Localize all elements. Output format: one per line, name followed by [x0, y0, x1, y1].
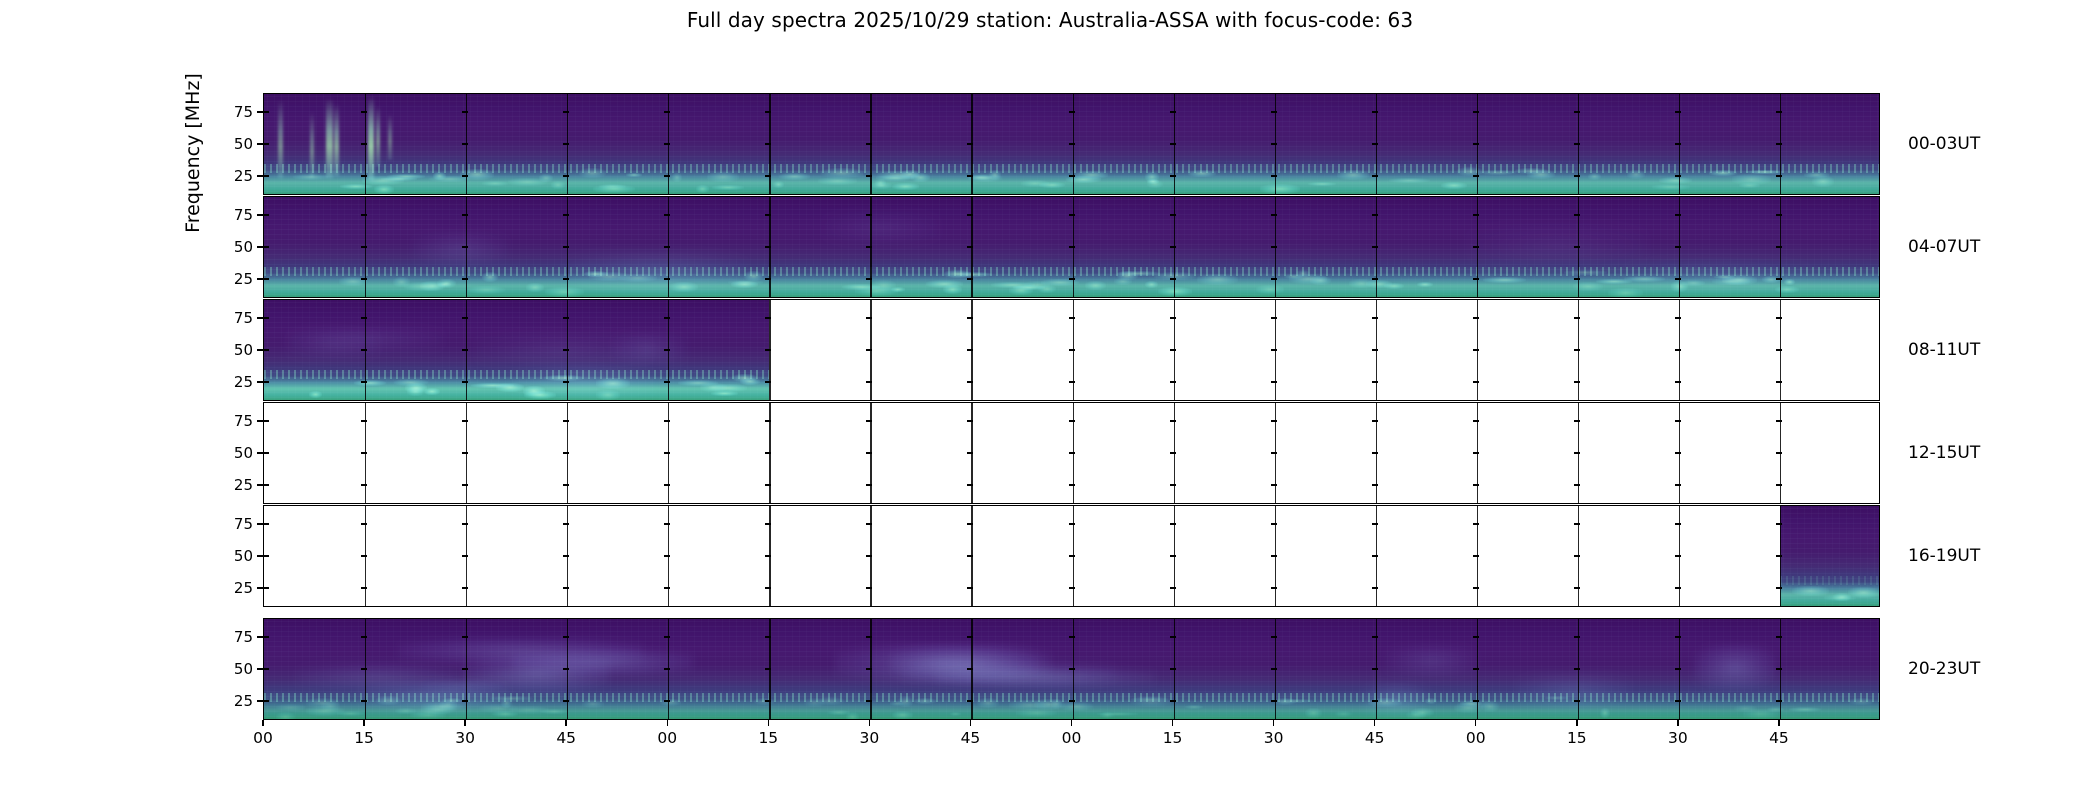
- spectrogram-figure: Full day spectra 2025/10/29 station: Aus…: [0, 0, 2100, 800]
- panel-row-label: 04-07UT: [1908, 237, 1980, 257]
- y-axis-tick: [462, 636, 468, 637]
- y-axis-tick: [967, 452, 973, 453]
- y-axis-tick: [1372, 246, 1378, 247]
- y-axis-tick: [1372, 452, 1378, 453]
- y-axis-tick: [1372, 381, 1378, 382]
- page-title: Full day spectra 2025/10/29 station: Aus…: [0, 8, 2100, 32]
- y-axis-tick: [263, 668, 269, 669]
- y-axis-tick: [563, 700, 569, 701]
- y-axis-tick: [1473, 381, 1479, 382]
- y-axis-label: Frequency [MHz]: [182, 38, 204, 268]
- y-axis-tick: [1069, 111, 1075, 112]
- y-axis-tick: [462, 668, 468, 669]
- y-axis-tick-label: 25: [209, 373, 253, 391]
- x-axis-tick: [1576, 720, 1577, 726]
- y-axis-tick: [866, 143, 872, 144]
- y-axis-tick: [1170, 175, 1176, 176]
- y-axis-tick: [361, 420, 367, 421]
- y-axis-tick: [1372, 555, 1378, 556]
- y-axis-tick: [263, 317, 269, 318]
- y-axis-tick: [263, 381, 269, 382]
- y-axis-tick: [1170, 143, 1176, 144]
- y-axis-tick: [1473, 349, 1479, 350]
- y-axis-tick: [1271, 317, 1277, 318]
- y-axis-tick: [664, 317, 670, 318]
- y-axis-tick: [967, 175, 973, 176]
- y-axis-tick: [765, 317, 771, 318]
- x-axis-tick-label: 00: [1446, 729, 1506, 747]
- y-axis-tick: [1473, 175, 1479, 176]
- y-axis-tick: [1170, 700, 1176, 701]
- y-axis-tick: [1574, 420, 1580, 421]
- y-axis-tick: [866, 349, 872, 350]
- y-axis-tick: [1574, 349, 1580, 350]
- y-axis-tick: [1776, 381, 1782, 382]
- y-axis-tick: [1473, 700, 1479, 701]
- x-axis-tick-label: 30: [435, 729, 495, 747]
- x-axis-tick-label: 15: [738, 729, 798, 747]
- y-axis-tick: [866, 381, 872, 382]
- x-axis-tick: [464, 720, 465, 726]
- y-axis-tick: [361, 587, 367, 588]
- no-data-region: [769, 300, 1880, 400]
- y-axis-tick: [1776, 214, 1782, 215]
- y-axis-tick: [866, 317, 872, 318]
- y-axis-tick: [1271, 246, 1277, 247]
- y-axis-tick: [1574, 555, 1580, 556]
- y-axis-tick: [361, 278, 367, 279]
- y-axis-tick: [967, 668, 973, 669]
- y-axis-tick: [1675, 278, 1681, 279]
- y-axis-tick: [765, 420, 771, 421]
- y-axis-tick: [361, 484, 367, 485]
- y-axis-tick: [664, 381, 670, 382]
- y-axis-tick: [967, 484, 973, 485]
- y-axis-tick: [1069, 278, 1075, 279]
- x-axis-tick-label: 00: [233, 729, 293, 747]
- y-axis-tick: [1069, 587, 1075, 588]
- y-axis-tick-label: 75: [209, 515, 253, 533]
- y-axis-tick: [1776, 452, 1782, 453]
- y-axis-tick: [765, 452, 771, 453]
- y-axis-tick: [1776, 636, 1782, 637]
- y-axis-tick: [1271, 523, 1277, 524]
- y-axis-tick: [263, 214, 269, 215]
- spectrogram-image: [1780, 506, 1880, 606]
- y-axis-tick: [1776, 420, 1782, 421]
- y-axis-tick: [866, 111, 872, 112]
- x-axis-tick: [1677, 720, 1678, 726]
- y-axis-tick: [462, 214, 468, 215]
- y-axis-tick: [1675, 587, 1681, 588]
- y-axis-tick: [263, 700, 269, 701]
- y-axis-tick: [1675, 636, 1681, 637]
- y-axis-tick: [664, 587, 670, 588]
- y-axis-tick: [664, 555, 670, 556]
- y-axis-tick: [967, 246, 973, 247]
- y-axis-tick: [361, 317, 367, 318]
- y-axis-tick: [1069, 523, 1075, 524]
- y-axis-tick: [664, 636, 670, 637]
- panel-row-label: 00-03UT: [1908, 134, 1980, 154]
- y-axis-tick: [1675, 214, 1681, 215]
- y-axis-tick: [462, 555, 468, 556]
- y-axis-tick: [563, 523, 569, 524]
- y-axis-tick: [263, 636, 269, 637]
- y-axis-tick: [1776, 246, 1782, 247]
- y-axis-tick-label: 50: [209, 444, 253, 462]
- y-axis-tick: [1170, 555, 1176, 556]
- y-axis-tick: [1574, 523, 1580, 524]
- no-data-region: [264, 506, 1780, 606]
- y-axis-tick: [263, 452, 269, 453]
- y-axis-tick: [361, 668, 367, 669]
- y-axis-tick: [263, 523, 269, 524]
- y-axis-tick: [462, 278, 468, 279]
- y-axis-tick: [1372, 700, 1378, 701]
- y-axis-tick: [361, 381, 367, 382]
- panel-row-label: 20-23UT: [1908, 659, 1980, 679]
- x-axis-tick-label: 15: [1143, 729, 1203, 747]
- y-axis-tick: [462, 246, 468, 247]
- y-axis-tick: [462, 700, 468, 701]
- y-axis-tick: [1574, 111, 1580, 112]
- y-axis-tick: [866, 214, 872, 215]
- y-axis-tick: [1271, 587, 1277, 588]
- emission-band: [264, 273, 1880, 297]
- y-axis-tick: [967, 111, 973, 112]
- emission-band: [264, 699, 1880, 719]
- y-axis-tick: [1170, 111, 1176, 112]
- y-axis-tick: [361, 246, 367, 247]
- y-axis-tick: [1473, 484, 1479, 485]
- y-axis-tick: [1271, 143, 1277, 144]
- y-axis-tick: [1776, 278, 1782, 279]
- y-axis-tick: [1372, 420, 1378, 421]
- y-axis-tick: [1170, 452, 1176, 453]
- y-axis-tick: [1170, 636, 1176, 637]
- x-axis-tick-label: 00: [1042, 729, 1102, 747]
- x-axis-tick-label: 45: [1345, 729, 1405, 747]
- y-axis-tick: [866, 587, 872, 588]
- y-axis-tick: [1069, 246, 1075, 247]
- y-axis-tick: [1372, 214, 1378, 215]
- y-axis-tick: [563, 636, 569, 637]
- emission-speckle: [264, 370, 769, 379]
- y-axis-tick-label: 50: [209, 135, 253, 153]
- y-axis-tick: [1069, 555, 1075, 556]
- x-axis-tick: [970, 720, 971, 726]
- y-axis-tick: [664, 143, 670, 144]
- y-axis-tick: [1473, 555, 1479, 556]
- y-axis-tick: [1271, 555, 1277, 556]
- y-axis-tick: [1271, 636, 1277, 637]
- y-axis-tick: [1170, 214, 1176, 215]
- y-axis-tick: [1271, 214, 1277, 215]
- y-axis-tick: [866, 700, 872, 701]
- y-axis-tick: [967, 420, 973, 421]
- y-axis-tick: [664, 420, 670, 421]
- x-axis-tick: [1273, 720, 1274, 726]
- y-axis-tick: [967, 636, 973, 637]
- y-axis-tick: [664, 668, 670, 669]
- x-axis-tick: [1172, 720, 1173, 726]
- y-axis-tick: [1372, 484, 1378, 485]
- y-axis-tick: [1069, 214, 1075, 215]
- x-axis-tick-label: 30: [1648, 729, 1708, 747]
- y-axis-tick: [664, 484, 670, 485]
- x-axis-tick: [869, 720, 870, 726]
- y-axis-tick: [1069, 700, 1075, 701]
- y-axis-tick: [1776, 587, 1782, 588]
- y-axis-tick: [1776, 523, 1782, 524]
- y-axis-tick-label: 25: [209, 476, 253, 494]
- y-axis-tick-label: 50: [209, 341, 253, 359]
- y-axis-tick: [1473, 278, 1479, 279]
- y-axis-tick: [1271, 278, 1277, 279]
- y-axis-tick: [1574, 668, 1580, 669]
- y-axis-tick: [263, 587, 269, 588]
- y-axis-tick: [1170, 381, 1176, 382]
- y-axis-tick: [1675, 111, 1681, 112]
- emission-band: [1780, 582, 1880, 606]
- y-axis-tick: [765, 587, 771, 588]
- y-axis-tick: [361, 143, 367, 144]
- y-axis-tick: [765, 700, 771, 701]
- y-axis-tick-label: 50: [209, 238, 253, 256]
- y-axis-tick: [1574, 246, 1580, 247]
- y-axis-tick: [1271, 700, 1277, 701]
- y-axis-tick: [563, 668, 569, 669]
- y-axis-tick: [1271, 381, 1277, 382]
- y-axis-tick: [765, 143, 771, 144]
- y-axis-tick: [361, 700, 367, 701]
- y-axis-tick: [361, 523, 367, 524]
- y-axis-tick: [1473, 246, 1479, 247]
- y-axis-tick: [1473, 668, 1479, 669]
- y-axis-tick: [765, 214, 771, 215]
- y-axis-tick: [967, 278, 973, 279]
- y-axis-tick: [462, 523, 468, 524]
- y-axis-tick: [765, 523, 771, 524]
- y-axis-tick: [1372, 636, 1378, 637]
- x-axis-tick-label: 15: [1547, 729, 1607, 747]
- y-axis-tick: [1776, 175, 1782, 176]
- y-axis-tick: [263, 420, 269, 421]
- y-axis-tick-label: 75: [209, 206, 253, 224]
- y-axis-tick: [1473, 523, 1479, 524]
- y-axis-tick: [1069, 452, 1075, 453]
- y-axis-tick: [1372, 349, 1378, 350]
- y-axis-tick: [1675, 555, 1681, 556]
- y-axis-tick: [765, 246, 771, 247]
- y-axis-tick: [866, 175, 872, 176]
- x-axis-tick: [1071, 720, 1072, 726]
- y-axis-tick: [1675, 668, 1681, 669]
- y-axis-tick: [263, 175, 269, 176]
- y-axis-tick: [1372, 668, 1378, 669]
- y-axis-tick: [967, 349, 973, 350]
- y-axis-tick: [1675, 484, 1681, 485]
- y-axis-tick: [361, 214, 367, 215]
- y-axis-tick: [1675, 700, 1681, 701]
- y-axis-tick: [462, 484, 468, 485]
- y-axis-tick: [563, 214, 569, 215]
- y-axis-tick: [1069, 317, 1075, 318]
- y-axis-tick: [462, 175, 468, 176]
- y-axis-tick: [1473, 420, 1479, 421]
- y-axis-tick: [1271, 349, 1277, 350]
- y-axis-tick: [1170, 587, 1176, 588]
- y-axis-tick: [866, 246, 872, 247]
- x-axis-tick-label: 30: [1244, 729, 1304, 747]
- y-axis-tick: [1574, 317, 1580, 318]
- y-axis-tick: [563, 278, 569, 279]
- y-axis-tick: [1069, 143, 1075, 144]
- y-axis-tick: [664, 349, 670, 350]
- y-axis-tick: [1372, 175, 1378, 176]
- y-axis-tick: [361, 555, 367, 556]
- y-axis-tick: [1069, 349, 1075, 350]
- y-axis-tick: [1069, 484, 1075, 485]
- y-axis-tick: [866, 420, 872, 421]
- y-axis-tick: [866, 523, 872, 524]
- y-axis-tick: [967, 317, 973, 318]
- x-axis-tick-label: 15: [334, 729, 394, 747]
- y-axis-tick: [1473, 452, 1479, 453]
- y-axis-tick: [1776, 668, 1782, 669]
- y-axis-tick: [1776, 143, 1782, 144]
- y-axis-tick: [1574, 587, 1580, 588]
- y-axis-tick: [462, 111, 468, 112]
- y-axis-tick: [1170, 317, 1176, 318]
- y-axis-tick: [563, 317, 569, 318]
- y-axis-tick: [866, 484, 872, 485]
- y-axis-tick: [1776, 555, 1782, 556]
- y-axis-tick: [765, 381, 771, 382]
- y-axis-tick: [1776, 111, 1782, 112]
- y-axis-tick: [1574, 700, 1580, 701]
- y-axis-tick: [1675, 143, 1681, 144]
- panel-row-label: 16-19UT: [1908, 546, 1980, 566]
- y-axis-tick: [361, 349, 367, 350]
- x-axis-tick: [667, 720, 668, 726]
- y-axis-tick: [866, 452, 872, 453]
- y-axis-tick: [1574, 143, 1580, 144]
- y-axis-tick: [563, 555, 569, 556]
- emission-band: [264, 376, 769, 400]
- y-axis-tick: [1069, 175, 1075, 176]
- y-axis-tick: [1170, 349, 1176, 350]
- y-axis-tick: [1170, 420, 1176, 421]
- y-axis-tick: [1675, 452, 1681, 453]
- y-axis-tick: [1372, 587, 1378, 588]
- y-axis-tick: [361, 452, 367, 453]
- y-axis-tick: [1271, 452, 1277, 453]
- y-axis-tick: [1776, 349, 1782, 350]
- y-axis-tick: [765, 349, 771, 350]
- y-axis-tick: [664, 523, 670, 524]
- emission-speckle: [264, 267, 1880, 276]
- y-axis-tick: [263, 111, 269, 112]
- y-axis-tick: [1473, 317, 1479, 318]
- y-axis-tick: [563, 420, 569, 421]
- y-axis-tick: [1574, 484, 1580, 485]
- panel-row-label: 08-11UT: [1908, 340, 1980, 360]
- y-axis-tick: [967, 555, 973, 556]
- y-axis-tick: [1271, 668, 1277, 669]
- y-axis-tick: [1776, 700, 1782, 701]
- y-axis-tick: [866, 555, 872, 556]
- y-axis-tick-label: 25: [209, 270, 253, 288]
- x-axis-tick-label: 45: [940, 729, 1000, 747]
- x-axis-tick: [1475, 720, 1476, 726]
- y-axis-tick: [462, 317, 468, 318]
- x-axis-tick: [262, 720, 263, 726]
- y-axis-tick: [1473, 111, 1479, 112]
- y-axis-tick: [1473, 143, 1479, 144]
- y-axis-tick: [263, 278, 269, 279]
- y-axis-tick-label: 25: [209, 579, 253, 597]
- y-axis-tick: [263, 143, 269, 144]
- x-axis-tick: [363, 720, 364, 726]
- y-axis-tick: [664, 214, 670, 215]
- y-axis-tick: [1069, 381, 1075, 382]
- y-axis-tick: [462, 349, 468, 350]
- y-axis-tick: [563, 381, 569, 382]
- y-axis-tick-label: 75: [209, 412, 253, 430]
- y-axis-tick: [361, 111, 367, 112]
- y-axis-tick: [462, 420, 468, 421]
- y-axis-tick: [263, 349, 269, 350]
- y-axis-tick: [263, 555, 269, 556]
- y-axis-tick: [866, 278, 872, 279]
- y-axis-tick-label: 50: [209, 660, 253, 678]
- y-axis-tick: [765, 668, 771, 669]
- y-axis-tick: [1574, 381, 1580, 382]
- y-axis-tick: [664, 175, 670, 176]
- y-axis-tick: [967, 143, 973, 144]
- y-axis-tick: [1372, 523, 1378, 524]
- spectrogram-image: [264, 300, 769, 400]
- x-axis-tick: [1374, 720, 1375, 726]
- y-axis-tick: [462, 587, 468, 588]
- y-axis-tick: [1170, 246, 1176, 247]
- y-axis-tick: [1675, 420, 1681, 421]
- y-axis-tick-label: 50: [209, 547, 253, 565]
- y-axis-tick: [1372, 111, 1378, 112]
- x-axis-tick-label: 45: [1749, 729, 1809, 747]
- y-axis-tick: [1473, 214, 1479, 215]
- y-axis-tick: [1372, 143, 1378, 144]
- y-axis-tick: [866, 636, 872, 637]
- y-axis-tick: [765, 278, 771, 279]
- emission-band: [264, 170, 1880, 194]
- y-axis-tick: [1069, 420, 1075, 421]
- panel-row-label: 12-15UT: [1908, 443, 1980, 463]
- y-axis-tick: [967, 214, 973, 215]
- y-axis-tick: [1069, 636, 1075, 637]
- y-axis-tick: [664, 278, 670, 279]
- y-axis-tick-label: 25: [209, 692, 253, 710]
- y-axis-tick: [1372, 317, 1378, 318]
- y-axis-tick: [1170, 668, 1176, 669]
- y-axis-tick: [563, 452, 569, 453]
- y-axis-tick: [1776, 317, 1782, 318]
- y-axis-tick: [1271, 175, 1277, 176]
- y-axis-tick: [1372, 278, 1378, 279]
- x-axis-tick-label: 45: [536, 729, 596, 747]
